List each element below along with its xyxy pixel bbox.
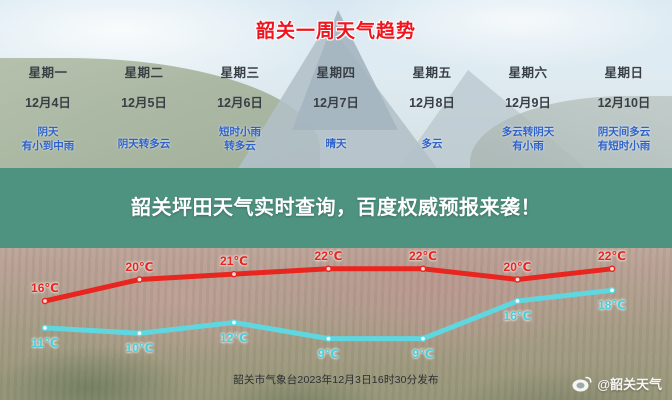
high-temp-label: 21℃ bbox=[220, 254, 248, 268]
date-label: 12月10日 bbox=[576, 92, 672, 111]
forecast-day-column: 星期一 12月4日 阴天 有小到中雨 bbox=[0, 62, 96, 172]
condition-line-1: 阴天转多云 bbox=[96, 136, 192, 151]
high-temp-label: 22℃ bbox=[315, 249, 343, 263]
weekday-label: 星期五 bbox=[384, 62, 480, 81]
low-temp-label: 10℃ bbox=[126, 341, 154, 355]
date-label: 12月6日 bbox=[192, 92, 288, 111]
forecast-day-column: 星期三 12月6日 短时小雨 转多云 bbox=[192, 62, 288, 172]
data-point bbox=[137, 277, 142, 282]
date-label: 12月8日 bbox=[384, 92, 480, 111]
forecast-day-column: 星期日 12月10日 阴天间多云 有短时小雨 bbox=[576, 62, 672, 172]
condition-line-1: 晴天 bbox=[288, 136, 384, 151]
data-point bbox=[42, 325, 47, 330]
high-temp-label: 20℃ bbox=[504, 260, 532, 274]
high-temp-label: 16℃ bbox=[31, 281, 59, 295]
date-label: 12月9日 bbox=[480, 92, 576, 111]
data-point bbox=[609, 288, 614, 293]
low-temp-label: 11℃ bbox=[31, 336, 58, 350]
condition-line-2: 有小到中雨 bbox=[0, 138, 96, 153]
data-point bbox=[231, 320, 236, 325]
forecast-day-column: 星期四 12月7日 晴天 bbox=[288, 62, 384, 172]
condition-line-1: 阴天 bbox=[0, 124, 96, 139]
forecast-day-row: 星期一 12月4日 阴天 有小到中雨 星期二 12月5日 阴天转多云 星期三 1… bbox=[0, 62, 672, 172]
high-temperature-line bbox=[45, 269, 612, 301]
data-point bbox=[326, 266, 331, 271]
low-temp-label: 16℃ bbox=[504, 309, 532, 323]
date-label: 12月4日 bbox=[0, 92, 96, 111]
page-title: 韶关一周天气趋势 bbox=[0, 16, 672, 43]
condition-line-2: 转多云 bbox=[192, 138, 288, 153]
data-point bbox=[515, 277, 520, 282]
low-temp-label: 9℃ bbox=[318, 347, 339, 361]
data-point bbox=[326, 336, 331, 341]
low-temp-label: 12℃ bbox=[220, 331, 248, 345]
date-label: 12月7日 bbox=[288, 92, 384, 111]
weibo-watermark: @韶关天气 bbox=[572, 374, 662, 393]
data-point bbox=[137, 331, 142, 336]
data-point bbox=[231, 272, 236, 277]
condition-line-1: 短时小雨 bbox=[192, 124, 288, 139]
weekday-label: 星期四 bbox=[288, 62, 384, 81]
forecast-day-column: 星期六 12月9日 多云转阴天 有小雨 bbox=[480, 62, 576, 172]
high-temp-label: 20℃ bbox=[126, 260, 154, 274]
low-temp-label: 9℃ bbox=[412, 347, 433, 361]
data-point bbox=[42, 298, 47, 303]
data-point bbox=[420, 336, 425, 341]
forecast-day-column: 星期二 12月5日 阴天转多云 bbox=[96, 62, 192, 172]
forecast-day-column: 星期五 12月8日 多云 bbox=[384, 62, 480, 172]
issued-by-text: 韶关市气象台2023年12月3日16时30分发布 bbox=[0, 372, 672, 387]
weekday-label: 星期三 bbox=[192, 62, 288, 81]
condition-line-1: 多云转阴天 bbox=[480, 124, 576, 139]
date-label: 12月5日 bbox=[96, 92, 192, 111]
temperature-trend-chart: 16℃20℃21℃22℃22℃20℃22℃11℃10℃12℃9℃9℃16℃18℃ bbox=[0, 236, 672, 356]
condition-line-1: 多云 bbox=[384, 136, 480, 151]
weather-forecast-card: 韶关一周天气趋势 星期一 12月4日 阴天 有小到中雨 星期二 12月5日 阴天… bbox=[0, 0, 672, 400]
condition-line-2: 有短时小雨 bbox=[576, 138, 672, 153]
high-temp-label: 22℃ bbox=[598, 249, 626, 263]
weekday-label: 星期二 bbox=[96, 62, 192, 81]
data-point bbox=[609, 266, 614, 271]
condition-line-1: 阴天间多云 bbox=[576, 124, 672, 139]
high-temp-label: 22℃ bbox=[409, 249, 437, 263]
low-temp-label: 18℃ bbox=[598, 298, 626, 312]
weibo-icon bbox=[572, 376, 592, 392]
condition-line-2: 有小雨 bbox=[480, 138, 576, 153]
weibo-handle: @韶关天气 bbox=[597, 374, 662, 393]
weekday-label: 星期一 bbox=[0, 62, 96, 81]
weekday-label: 星期六 bbox=[480, 62, 576, 81]
data-point bbox=[420, 266, 425, 271]
data-point bbox=[515, 298, 520, 303]
promo-banner-text: 韶关坪田天气实时查询，百度权威预报来袭！ bbox=[26, 195, 646, 222]
weekday-label: 星期日 bbox=[576, 62, 672, 81]
